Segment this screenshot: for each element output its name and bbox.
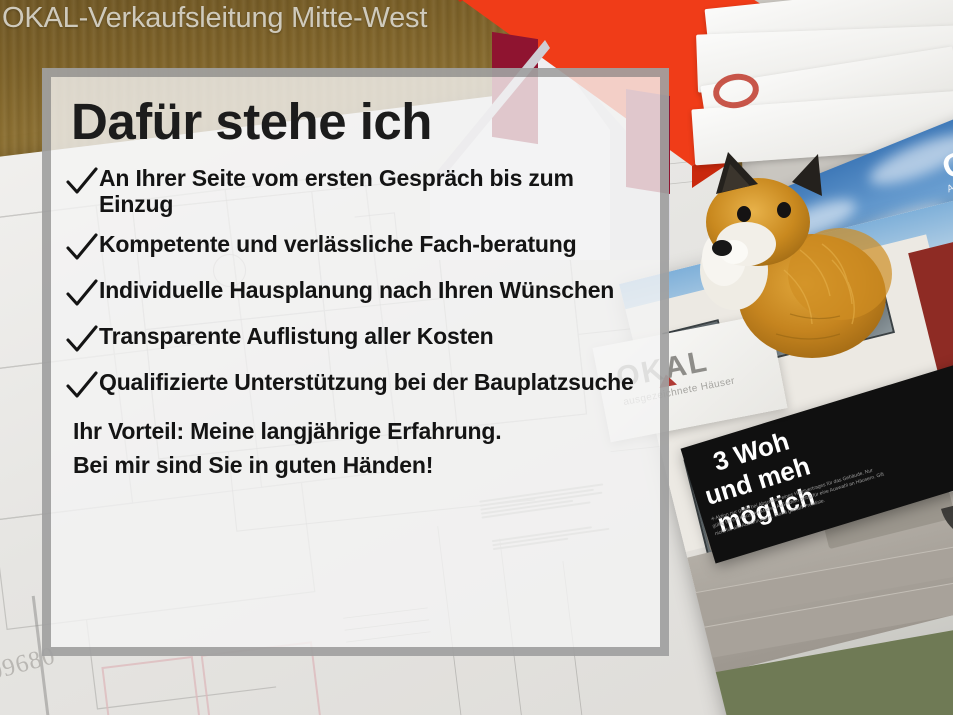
check-mark-icon <box>65 371 99 401</box>
content-panel: Dafür stehe ich An Ihrer Seite vom erste… <box>42 68 669 656</box>
panel-heading: Dafür stehe ich <box>71 95 646 149</box>
check-mark-icon <box>65 325 99 355</box>
check-mark-icon <box>65 279 99 309</box>
list-item: Individuelle Hausplanung nach Ihren Wüns… <box>65 277 646 309</box>
list-item: Transparente Auflistung aller Kosten <box>65 323 646 355</box>
check-mark-icon <box>65 167 99 197</box>
list-item-label: Individuelle Hausplanung nach Ihren Wüns… <box>99 277 622 303</box>
list-item: An Ihrer Seite vom ersten Gespräch bis z… <box>65 165 646 217</box>
closing-statement: Ihr Vorteil: Meine langjährige Erfahrung… <box>73 415 646 482</box>
list-item: Qualifizierte Unterstützung bei der Baup… <box>65 369 646 401</box>
benefits-list: An Ihrer Seite vom ersten Gespräch bis z… <box>65 165 646 401</box>
list-item-label: Transparente Auflistung aller Kosten <box>99 323 502 349</box>
page-title: OKAL-Verkaufsleitung Mitte-West <box>2 2 427 35</box>
screenshot-canvas: 1368-30009680 <box>0 0 953 715</box>
check-mark-icon <box>65 233 99 263</box>
list-item: Kompetente und verlässliche Fach-beratun… <box>65 231 646 263</box>
list-item-label: Qualifizierte Unterstützung bei der Baup… <box>99 369 642 395</box>
plush-fox-figurine <box>672 148 902 378</box>
list-item-label: Kompetente und verlässliche Fach-beratun… <box>99 231 584 257</box>
list-item-label: An Ihrer Seite vom ersten Gespräch bis z… <box>99 165 646 217</box>
closing-line-1: Ihr Vorteil: Meine langjährige Erfahrung… <box>73 415 646 448</box>
closing-line-2: Bei mir sind Sie in guten Händen! <box>73 449 646 482</box>
